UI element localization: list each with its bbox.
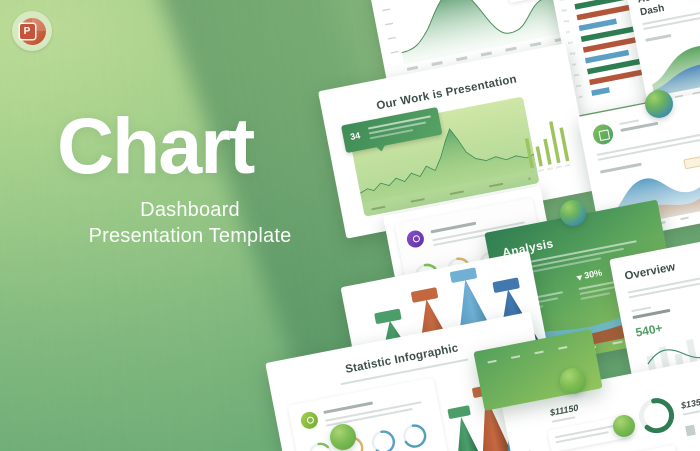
svg-text:Oct: Oct	[559, 0, 565, 2]
cta-card[interactable]	[580, 445, 680, 451]
hero: Chart Dashboard Presentation Template	[57, 110, 357, 249]
svg-text:Jun: Jun	[567, 40, 573, 45]
decorative-sphere-1	[645, 90, 673, 118]
svg-text:Sep: Sep	[561, 8, 567, 13]
decorative-sphere-5	[613, 415, 635, 437]
decorative-sphere-3	[560, 368, 586, 394]
slide-overview-title: Overview	[624, 261, 677, 283]
powerpoint-icon-inner: P	[19, 18, 46, 45]
decorative-sphere-2	[560, 200, 586, 226]
svg-text:2014: 2014	[538, 168, 545, 173]
chart-label	[645, 34, 671, 41]
powerpoint-letter: P	[20, 24, 35, 39]
donut-chart-financial	[631, 390, 683, 442]
body-line	[598, 138, 700, 162]
sub-stats-row	[685, 420, 700, 436]
hero-subtitle-line2: Presentation Template	[57, 223, 323, 249]
svg-text:2015: 2015	[547, 166, 554, 171]
amount1-label-line	[552, 416, 576, 423]
stat2-value: 30%	[583, 267, 603, 280]
book-icon-glyph	[598, 129, 610, 141]
overview-stat-value: 540+	[634, 321, 663, 340]
eyebrow-line	[631, 306, 651, 312]
svg-text:Feb: Feb	[576, 83, 582, 88]
hero-subtitle-line1: Dashboard	[57, 197, 323, 223]
svg-text:May: May	[569, 51, 576, 56]
bar-chart-yearly: 201320142015 20162017	[519, 111, 575, 175]
stat-down-icon	[576, 275, 583, 281]
svg-text:Mar: Mar	[574, 73, 580, 78]
page-title: Chart	[57, 110, 357, 183]
x-axis-ticks	[487, 343, 582, 363]
amount2-value: $13500	[680, 395, 700, 411]
slide-account-title: AccDash	[637, 0, 666, 19]
poster-canvas: DecNovOct SepAugJul JunMayApr MarFebJan	[0, 0, 700, 451]
eyebrow-line	[619, 119, 639, 125]
svg-text:2017: 2017	[564, 163, 571, 168]
svg-text:Jan: Jan	[578, 94, 584, 99]
powerpoint-card: P	[20, 24, 35, 39]
svg-text:Apr: Apr	[572, 62, 577, 67]
powerpoint-icon: P	[12, 11, 52, 51]
svg-text:Aug: Aug	[563, 19, 569, 24]
hero-subtitle: Dashboard Presentation Template	[57, 197, 323, 250]
decorative-sphere-4	[330, 424, 356, 450]
svg-text:2016: 2016	[555, 164, 562, 169]
svg-text:Jul: Jul	[565, 30, 570, 35]
